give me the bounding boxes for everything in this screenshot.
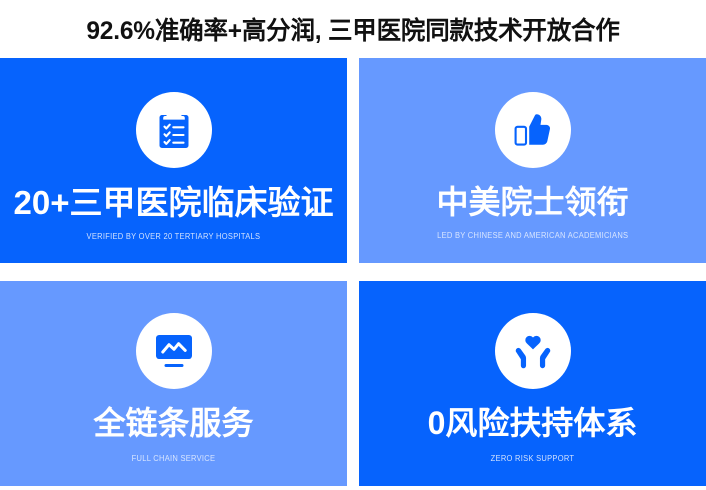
thumbs-up-icon: [495, 92, 571, 168]
feature-card-title: 0风险扶持体系: [428, 407, 638, 439]
feature-highlights-page: 92.6%准确率+高分润, 三甲医院同款技术开放合作: [0, 0, 706, 490]
feature-card-subtitle: LED BY CHINESE AND AMERICAN ACADEMICIANS: [437, 231, 628, 240]
feature-card-full-chain-service[interactable]: 全链条服务 FULL CHAIN SERVICE: [0, 281, 347, 486]
feature-card-academician-led[interactable]: 中美院士领衔 LED BY CHINESE AND AMERICAN ACADE…: [359, 58, 706, 263]
feature-card-grid: 20+三甲医院临床验证 VERIFIED BY OVER 20 TERTIARY…: [0, 58, 706, 486]
feature-card-clinical-validation[interactable]: 20+三甲医院临床验证 VERIFIED BY OVER 20 TERTIARY…: [0, 58, 347, 263]
clipboard-checklist-icon: [136, 92, 212, 168]
feature-card-subtitle: ZERO RISK SUPPORT: [491, 454, 575, 463]
page-title: 92.6%准确率+高分润, 三甲医院同款技术开放合作: [7, 0, 699, 58]
hands-holding-heart-icon: [495, 313, 571, 389]
feature-card-subtitle: FULL CHAIN SERVICE: [132, 454, 216, 463]
feature-card-zero-risk-support[interactable]: 0风险扶持体系 ZERO RISK SUPPORT: [359, 281, 706, 486]
feature-card-title: 中美院士领衔: [436, 186, 628, 218]
feature-card-title: 全链条服务: [93, 407, 253, 439]
feature-card-title: 20+三甲医院临床验证: [14, 186, 334, 219]
monitor-chart-icon: [136, 313, 212, 389]
feature-card-subtitle: VERIFIED BY OVER 20 TERTIARY HOSPITALS: [87, 232, 261, 241]
